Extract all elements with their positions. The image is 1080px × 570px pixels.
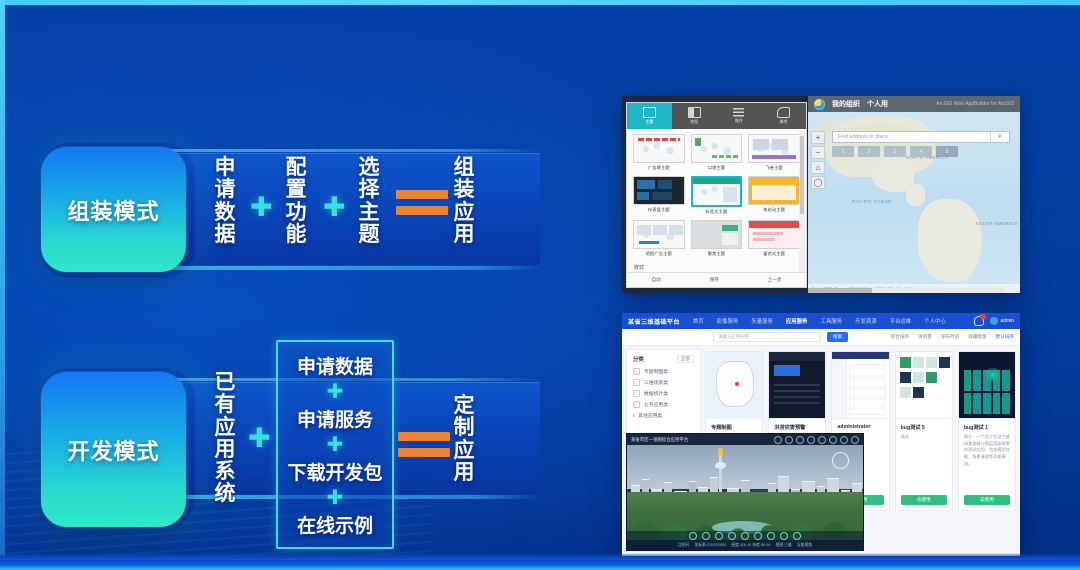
nav-item-tools[interactable]: 工具服务 — [820, 317, 842, 325]
zoom-in-icon[interactable]: + — [811, 131, 825, 144]
print-icon[interactable] — [829, 436, 837, 444]
sidebar-title: 分类 — [633, 355, 644, 363]
footer-prev[interactable]: 上一步 — [768, 277, 782, 283]
portal-toolbar: 请输入应用名称 搜索 综合排序 访问量 发布时间 收藏数量 默认排序 — [622, 329, 1020, 346]
viewer-title: 某省市区一张图综合应用平台 — [631, 437, 688, 443]
viewer-bottom-dock[interactable] — [627, 531, 863, 540]
portal-search-button[interactable]: 搜索 — [827, 332, 848, 342]
dock-icon[interactable] — [689, 532, 697, 540]
plus-icon: ✚ — [248, 425, 271, 452]
mode-tile-assembly[interactable]: 组装模式 — [41, 147, 186, 272]
tab-widget[interactable]: 微件 — [717, 103, 762, 129]
template-grid: 广告牌主题 口袋主题 飞卷主题 — [633, 134, 800, 257]
filter-option-expandable[interactable]: 其他应用类 — [633, 412, 694, 419]
builder-tab-bar: 主题 地图 微件 属性 — [627, 103, 806, 129]
dock-icon[interactable] — [741, 532, 749, 540]
step-text-select-theme: 选 择 主 题 — [356, 157, 382, 246]
tab-theme[interactable]: 主题 — [627, 103, 672, 129]
status-scale: 比例尺 — [678, 543, 689, 548]
marker-icon[interactable] — [807, 436, 815, 444]
mode-tile-label: 组装模式 — [67, 194, 159, 226]
home-icon[interactable]: ⌂ — [811, 161, 825, 174]
template-card[interactable]: 聚焦主题 — [691, 220, 743, 257]
dock-icon[interactable] — [702, 532, 710, 540]
widget-icon — [733, 108, 744, 117]
app-card[interactable]: bug测试 5 测试 去使用 — [895, 351, 953, 511]
equals-icon — [396, 190, 448, 215]
plus-icon: ✚ — [327, 382, 344, 402]
nav-item-ops[interactable]: 平台运维 — [890, 317, 912, 325]
template-card-selected[interactable]: 标签式主题 — [691, 176, 743, 215]
analysis-icon[interactable] — [818, 436, 826, 444]
filter-option[interactable]: 数据统计类 — [633, 390, 694, 397]
dev-step-label: 下载开发包 — [287, 458, 382, 485]
card-thumbnail — [959, 352, 1015, 419]
magnifier-icon[interactable]: ⌕ — [990, 132, 1009, 142]
dev-step-label: 申请数据 — [297, 352, 373, 379]
search-placeholder: Find address or place — [833, 134, 888, 140]
dev-step-label: 申请服务 — [297, 405, 373, 432]
template-card[interactable]: 口袋主题 — [691, 134, 743, 171]
viewer-tool-icons[interactable] — [774, 436, 859, 444]
dock-icon[interactable] — [793, 532, 801, 540]
frame-edge-bottom-inner — [0, 553, 1080, 560]
portal-brand[interactable]: 某省三维基础平台 — [628, 317, 680, 326]
template-card[interactable]: 窗帘式主题 — [748, 220, 800, 257]
builder-footer: 自动 保存 上一步 — [627, 272, 806, 287]
footer-save[interactable]: 保存 — [710, 277, 719, 283]
user-name: admin — [1000, 318, 1014, 324]
step-text-apply-data: 申 请 数 据 — [212, 157, 238, 246]
card-use-button[interactable]: 去使用 — [964, 495, 1010, 505]
step-text-custom-app: 定 制 应 用 — [451, 395, 477, 484]
card-description: 简介：一个用于验证三维场景加载与图层渲染效果的测试应用，包含模型加载、场景漫游等… — [964, 434, 1010, 468]
card-title: 洪涝灾害预警 — [774, 424, 820, 431]
status-crs: 坐标系:CGCS2000 — [694, 543, 726, 548]
map-label: SOUTH AMERICA — [969, 221, 1020, 227]
pager-item[interactable]: 2 — [858, 146, 880, 157]
card-description: 测试 — [901, 434, 947, 441]
theme-icon — [643, 107, 656, 118]
settings-icon[interactable] — [851, 436, 859, 444]
viewer-statusbar: 比例尺 坐标系:CGCS2000 经度:116.40 纬度:39.90 视图:三… — [627, 540, 863, 550]
pager-item-active[interactable]: 5 — [936, 146, 958, 157]
card-thumbnail — [832, 352, 888, 419]
step-text-configure-function: 配 置 功 能 — [283, 157, 309, 246]
pager-item[interactable]: 1 — [832, 146, 854, 157]
card-title: bug测试 1 — [964, 424, 1010, 431]
app-card[interactable]: bug测试 1 简介：一个用于验证三维场景加载与图层渲染效果的测试应用，包含模型… — [958, 351, 1016, 511]
fullscreen-icon[interactable] — [840, 436, 848, 444]
template-card[interactable]: 地图广告主题 — [633, 220, 685, 257]
pager-item[interactable]: 4 — [910, 146, 932, 157]
status-camera: 当前视角 — [797, 543, 812, 548]
globe-icon — [814, 99, 825, 110]
screenshot-web-app-builder[interactable]: 主题 地图 微件 属性 广告 — [622, 96, 1020, 293]
dock-icon[interactable] — [715, 532, 723, 540]
map-icon — [688, 107, 701, 118]
user-menu[interactable]: admin — [990, 317, 1014, 325]
viewer-toolbar: 某省市区一张图综合应用平台 — [627, 434, 863, 445]
card-thumbnail — [706, 352, 762, 419]
locate-icon[interactable]: ◯ — [811, 176, 825, 189]
status-coords: 经度:116.40 纬度:39.90 — [731, 543, 770, 548]
dev-step-label: 在线示例 — [297, 511, 373, 538]
plus-icon: ✚ — [327, 435, 344, 455]
template-card[interactable]: 快启动主题 — [748, 176, 800, 215]
nav-item-application[interactable]: 应用服务 — [786, 317, 808, 325]
equals-icon — [398, 432, 450, 457]
card-title: administrator — [837, 424, 883, 430]
plus-icon: ✚ — [323, 194, 346, 221]
product-name: ArcGIS Web AppBuilder for ArcGIS — [936, 101, 1014, 107]
map-canvas[interactable]: NORTH AMERICA PACIFIC OCEAN SOUTH AMERIC… — [808, 112, 1020, 293]
step-text-assembled-app: 组 装 应 用 — [451, 157, 477, 246]
filter-publish-time[interactable]: 发布时间 — [941, 334, 959, 340]
frame-edge-left — [0, 0, 5, 570]
horizontal-scrollbar[interactable] — [808, 288, 1004, 293]
sidebar-header: 分类 全部 — [633, 355, 694, 363]
template-card[interactable]: 广告牌主题 — [633, 134, 685, 171]
card-thumbnail — [769, 352, 825, 419]
mode-tile-label: 开发模式 — [67, 434, 159, 466]
status-view: 视图:三维 — [776, 543, 792, 548]
card-title: bug测试 5 — [901, 424, 947, 431]
slide-canvas: 组装模式 申 请 数 据 ✚ 配 置 功 能 ✚ 选 择 主 题 组 装 应 用… — [0, 0, 1080, 570]
style-section-title: 样式 — [634, 264, 800, 271]
dock-icon[interactable] — [780, 532, 788, 540]
sidebar-count[interactable]: 全部 — [677, 355, 694, 363]
portal-navbar: 某省三维基础平台 首页 影像服务 矢量服务 应用服务 工具服务 开发资源 平台运… — [622, 313, 1020, 329]
frame-edge-bottom — [0, 560, 1080, 570]
filter-comprehensive[interactable]: 综合排序 — [891, 334, 909, 340]
filter-option[interactable]: 业务应用类 — [633, 401, 694, 408]
builder-topbar: 我的组织 个人用 ArcGIS Web AppBuilder for ArcGI… — [808, 96, 1020, 112]
app-label[interactable]: 个人用 — [867, 99, 888, 109]
footer-auto[interactable]: 自动 — [652, 277, 661, 283]
nav-item-imagery[interactable]: 影像服务 — [717, 317, 739, 325]
bell-icon[interactable] — [974, 316, 984, 326]
map-label: PACIFIC OCEAN — [842, 199, 902, 205]
frame-edge-top — [0, 0, 1080, 5]
filter-option[interactable]: 专题制图类 — [633, 368, 694, 375]
org-label[interactable]: 我的组织 — [832, 99, 860, 109]
builder-template-list[interactable]: 广告牌主题 口袋主题 飞卷主题 — [627, 129, 806, 273]
tab-attribute[interactable]: 属性 — [761, 103, 806, 129]
zoom-out-icon[interactable]: − — [811, 146, 825, 159]
map-search-box[interactable]: Find address or place ⌕ — [832, 131, 1010, 143]
filter-option[interactable]: 三维场景类 — [633, 379, 694, 386]
card-thumbnail — [896, 352, 952, 419]
city-3d-viewer[interactable]: 某省市区一张图综合应用平台 — [626, 433, 864, 551]
card-use-button[interactable]: 去使用 — [901, 495, 947, 505]
portal-search-input[interactable]: 请输入应用名称 — [713, 332, 821, 342]
mode-tile-development[interactable]: 开发模式 — [41, 372, 186, 527]
plus-icon: ✚ — [250, 194, 273, 221]
card-title: 专题制图 — [711, 424, 757, 431]
builder-map-preview[interactable]: 我的组织 个人用 ArcGIS Web AppBuilder for ArcGI… — [808, 96, 1020, 293]
screenshot-portal[interactable]: 某省三维基础平台 首页 影像服务 矢量服务 应用服务 工具服务 开发资源 平台运… — [622, 313, 1020, 556]
dock-icon[interactable] — [767, 532, 775, 540]
attribute-icon — [777, 107, 790, 118]
nav-item-vector[interactable]: 矢量服务 — [751, 317, 773, 325]
avatar — [990, 317, 998, 325]
builder-left-panel: 主题 地图 微件 属性 广告 — [626, 102, 807, 288]
filter-visits[interactable]: 访问量 — [918, 334, 932, 340]
map-tools[interactable]: + − ⌂ ◯ — [811, 131, 825, 191]
step-text-existing-system: 已 有 应 用 系 统 — [212, 372, 238, 506]
nav-item-dev-resources[interactable]: 开发资源 — [855, 317, 877, 325]
dock-icon[interactable] — [728, 532, 736, 540]
dock-icon[interactable] — [754, 532, 762, 540]
layers-icon[interactable] — [774, 436, 782, 444]
nav-item-profile[interactable]: 个人中心 — [924, 317, 946, 325]
filter-default[interactable]: 默认排序 — [996, 334, 1014, 340]
measure-icon[interactable] — [785, 436, 793, 444]
panel-scrollbar[interactable] — [799, 130, 805, 272]
draw-icon[interactable] — [796, 436, 804, 444]
nav-item-home[interactable]: 首页 — [693, 317, 704, 325]
map-pager[interactable]: 1 2 3 4 5 — [832, 146, 958, 157]
template-card[interactable]: 飞卷主题 — [748, 134, 800, 171]
plus-icon: ✚ — [327, 488, 344, 508]
compass-icon[interactable] — [832, 452, 849, 469]
dev-steps-box: 申请数据 ✚ 申请服务 ✚ 下载开发包 ✚ 在线示例 — [276, 340, 394, 549]
tab-map[interactable]: 地图 — [672, 103, 717, 129]
pager-item[interactable]: 3 — [884, 146, 906, 157]
template-card[interactable]: 仪表盘主题 — [633, 176, 685, 215]
filter-favorites[interactable]: 收藏数量 — [968, 334, 986, 340]
